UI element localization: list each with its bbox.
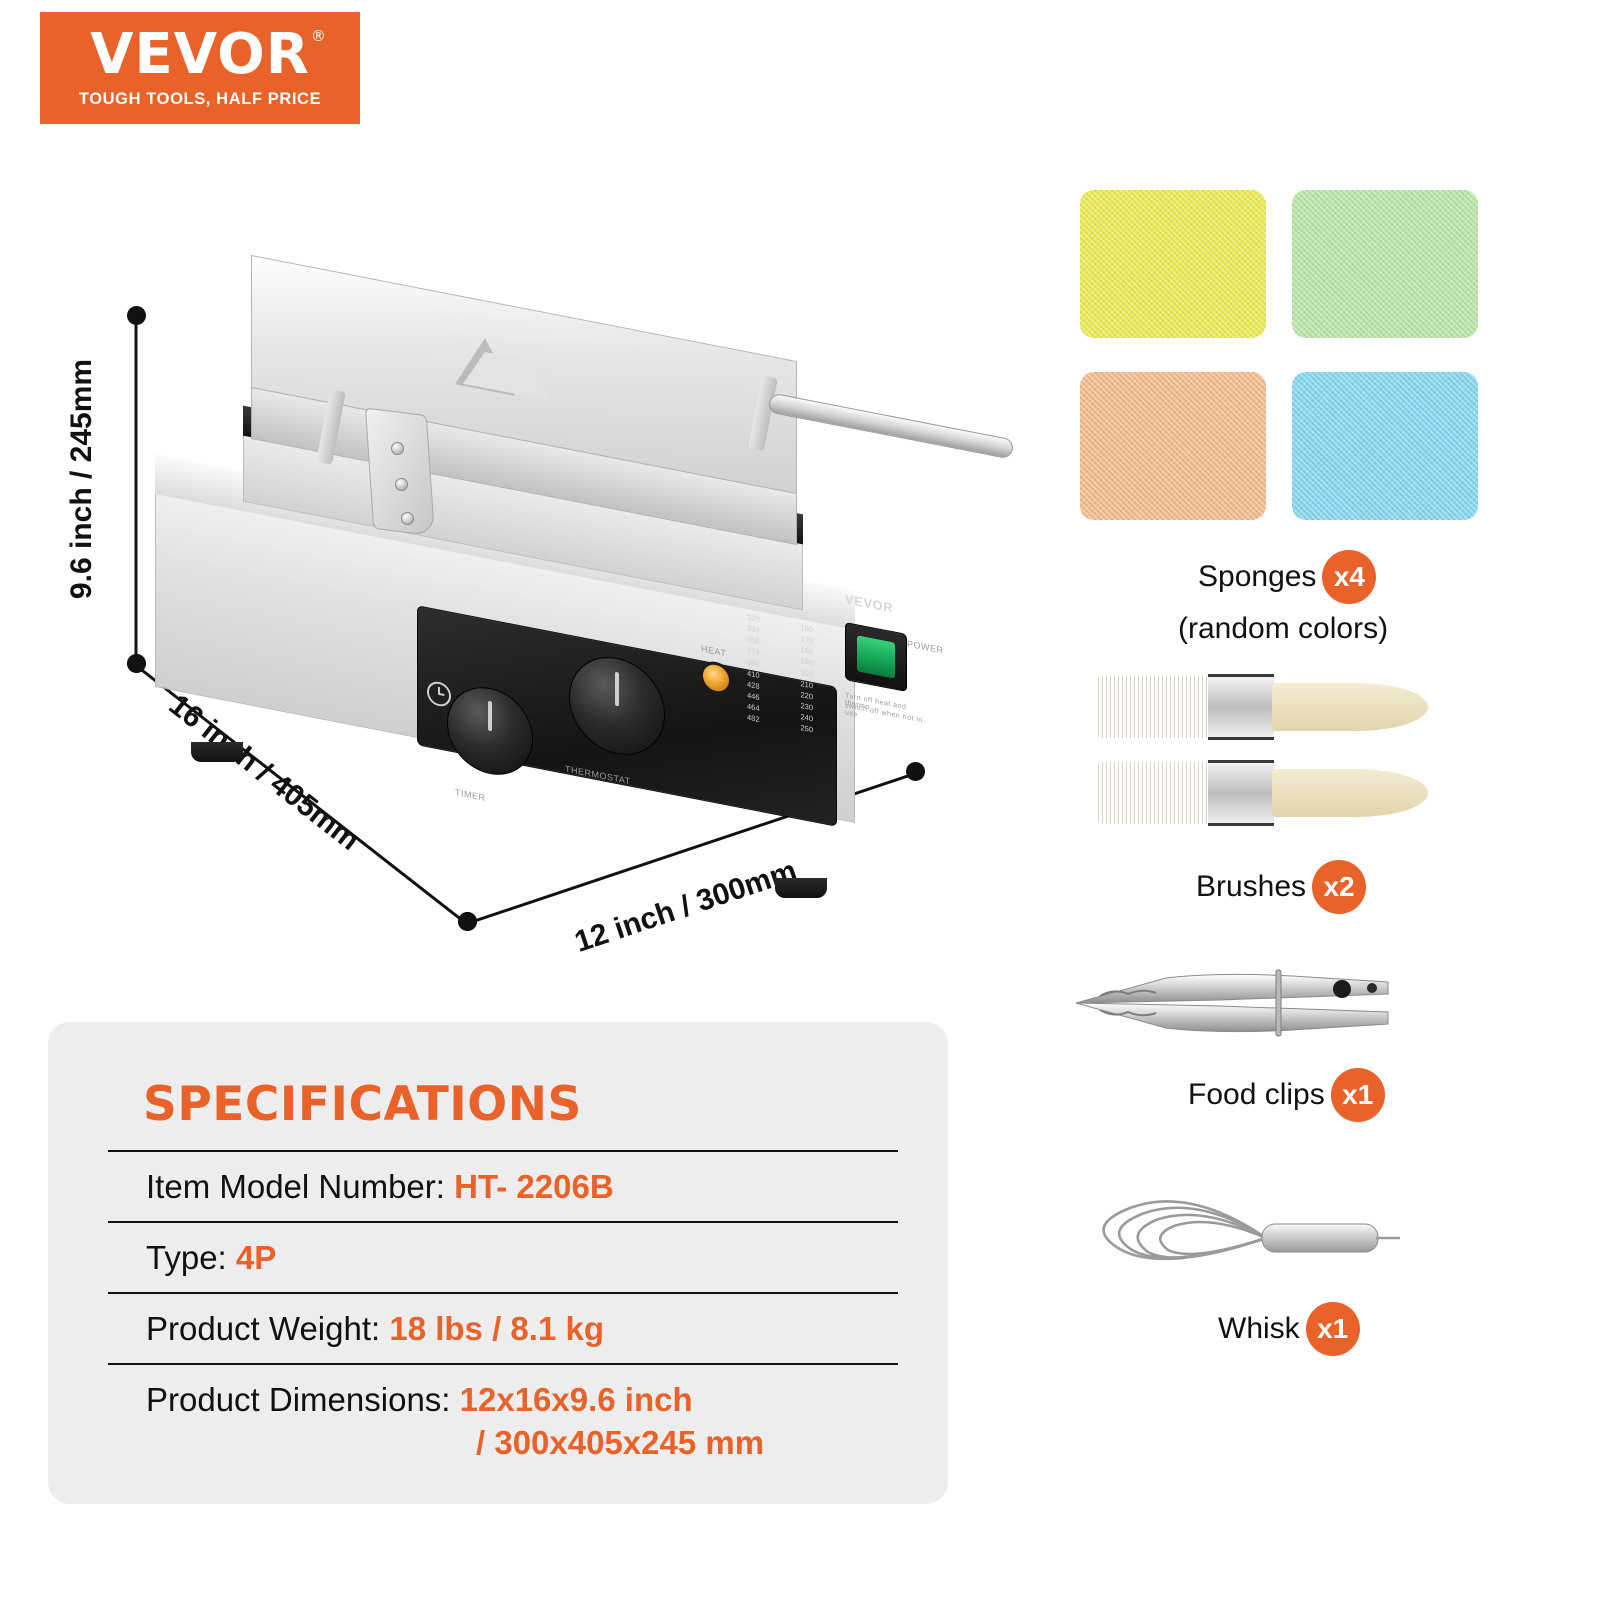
lid-handle-bar[interactable] xyxy=(767,393,1014,460)
height-dim-line xyxy=(135,318,138,666)
food-clips-label: Food clips x1 xyxy=(1188,1068,1385,1122)
brushes-label: Brushes x2 xyxy=(1196,860,1366,914)
vevor-logo: VEVOR® TOUGH TOOLS, HALF PRICE xyxy=(40,12,360,124)
hinge-rivet-1 xyxy=(391,442,404,455)
height-dim-label: 9.6 inch / 245mm xyxy=(65,359,99,599)
brush-2 xyxy=(1098,758,1428,828)
spec-value-type: 4P xyxy=(236,1239,276,1276)
sponges-qty-badge: x4 xyxy=(1322,550,1376,604)
food-clips-illustration xyxy=(1070,960,1400,1046)
specifications-card: SPECIFICATIONS Item Model Number: HT- 22… xyxy=(48,1022,948,1504)
sponge-orange xyxy=(1080,372,1266,520)
power-rocker-switch[interactable] xyxy=(845,622,907,692)
brushes-name: Brushes xyxy=(1196,870,1306,904)
product-photo: 9.6 inch / 245mm 16 inch / 405mm 12 inch… xyxy=(60,270,960,970)
width-dim-label: 12 inch / 300mm xyxy=(571,854,802,960)
sponges-label: Sponges x4 xyxy=(1198,550,1376,604)
accessory-whisk: Whisk x1 xyxy=(1070,1190,1500,1390)
spec-label-model: Item Model Number: xyxy=(146,1168,445,1205)
spec-row-type: Type: 4P xyxy=(108,1221,898,1292)
waffle-maker-machine: 320160 338170 356180 374190 392200 41021… xyxy=(155,290,925,850)
spec-row-model: Item Model Number: HT- 2206B xyxy=(108,1150,898,1221)
power-label: POWER xyxy=(907,638,944,655)
hinge-rivet-3 xyxy=(401,512,414,525)
spec-label-weight: Product Weight: xyxy=(146,1310,380,1347)
spec-value-dimensions: 12x16x9.6 inch xyxy=(460,1381,693,1418)
brushes-qty-badge: x2 xyxy=(1312,860,1366,914)
sponges-note: (random colors) xyxy=(1178,612,1388,646)
sponge-yellow xyxy=(1080,190,1266,338)
machine-foot-right xyxy=(775,878,827,898)
accessory-brushes: Brushes x2 xyxy=(1098,672,1498,912)
whisk-name: Whisk xyxy=(1218,1312,1300,1346)
hinge-rivet-2 xyxy=(395,478,408,491)
product-spec-page: VEVOR® TOUGH TOOLS, HALF PRICE 9.6 inch … xyxy=(0,0,1600,1600)
spec-label-dimensions: Product Dimensions: xyxy=(146,1381,450,1418)
whisk-qty-badge: x1 xyxy=(1306,1302,1360,1356)
lid-hinge-bracket xyxy=(365,407,435,536)
temperature-conversion-chart: 320160 338170 356180 374190 392200 41021… xyxy=(747,614,813,735)
spec-value-dimensions-mm: / 300x405x245 mm xyxy=(146,1422,898,1465)
spec-row-weight: Product Weight: 18 lbs / 8.1 kg xyxy=(108,1292,898,1363)
brush-bristles-2 xyxy=(1098,762,1210,824)
brand-name: VEVOR® xyxy=(90,27,310,83)
brush-1 xyxy=(1098,672,1428,742)
whisk-illustration xyxy=(1070,1190,1400,1286)
whisk-label: Whisk x1 xyxy=(1218,1302,1360,1356)
specifications-list: Item Model Number: HT- 2206B Type: 4P Pr… xyxy=(108,1150,898,1476)
machine-foot-left xyxy=(191,742,243,762)
spec-value-weight: 18 lbs / 8.1 kg xyxy=(389,1310,604,1347)
spec-row-dimensions: Product Dimensions: 12x16x9.6 inch / 300… xyxy=(108,1363,898,1477)
brand-tagline: TOUGH TOOLS, HALF PRICE xyxy=(79,90,321,109)
sponge-blue xyxy=(1292,372,1478,520)
spec-label-type: Type: xyxy=(146,1239,227,1276)
registered-mark: ® xyxy=(311,29,327,44)
food-clips-name: Food clips xyxy=(1188,1078,1325,1112)
food-clips-qty-badge: x1 xyxy=(1331,1068,1385,1122)
brush-ferrule-1 xyxy=(1208,674,1274,740)
brush-handle-2 xyxy=(1272,769,1428,817)
brush-bristles-1 xyxy=(1098,676,1210,738)
accessory-food-clips: Food clips x1 xyxy=(1070,960,1500,1150)
spec-value-model: HT- 2206B xyxy=(454,1168,614,1205)
timer-label: TIMER xyxy=(455,787,486,803)
brush-ferrule-2 xyxy=(1208,760,1274,826)
sponges-name: Sponges xyxy=(1198,560,1316,594)
sponge-green xyxy=(1292,190,1478,338)
brush-handle-1 xyxy=(1272,683,1428,731)
specifications-title: SPECIFICATIONS xyxy=(143,1077,582,1132)
accessory-sponges: Sponges x4 (random colors) xyxy=(1080,190,1510,670)
